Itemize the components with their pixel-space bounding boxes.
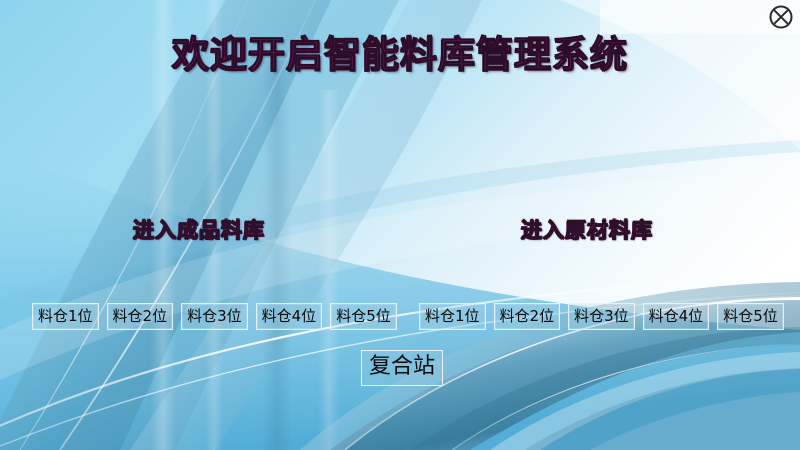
slot-button-raw-1[interactable]: 料仓1位	[419, 303, 486, 330]
slot-button-finished-4[interactable]: 料仓4位	[256, 303, 323, 330]
slot-button-raw-2[interactable]: 料仓2位	[494, 303, 561, 330]
section-header-finished-goods[interactable]: 进入成品料库	[133, 217, 265, 243]
section-header-raw-materials[interactable]: 进入原材料库	[521, 217, 653, 243]
slot-button-finished-5[interactable]: 料仓5位	[330, 303, 397, 330]
slot-button-raw-4[interactable]: 料仓4位	[643, 303, 710, 330]
slot-button-row-raw-materials: 料仓1位 料仓2位 料仓3位 料仓4位 料仓5位	[419, 303, 784, 330]
slot-button-finished-2[interactable]: 料仓2位	[107, 303, 174, 330]
compound-station-button[interactable]: 复合站	[361, 350, 443, 386]
slot-button-raw-3[interactable]: 料仓3位	[568, 303, 635, 330]
slot-button-raw-5[interactable]: 料仓5位	[717, 303, 784, 330]
slot-button-row-finished-goods: 料仓1位 料仓2位 料仓3位 料仓4位 料仓5位	[32, 303, 397, 330]
page-title: 欢迎开启智能料库管理系统	[0, 32, 800, 78]
slot-button-finished-1[interactable]: 料仓1位	[32, 303, 99, 330]
close-button[interactable]	[768, 4, 794, 30]
slot-button-finished-3[interactable]: 料仓3位	[181, 303, 248, 330]
main-window: 欢迎开启智能料库管理系统 进入成品料库 进入原材料库 料仓1位 料仓2位 料仓3…	[0, 0, 800, 450]
close-circle-x-icon	[768, 4, 794, 30]
